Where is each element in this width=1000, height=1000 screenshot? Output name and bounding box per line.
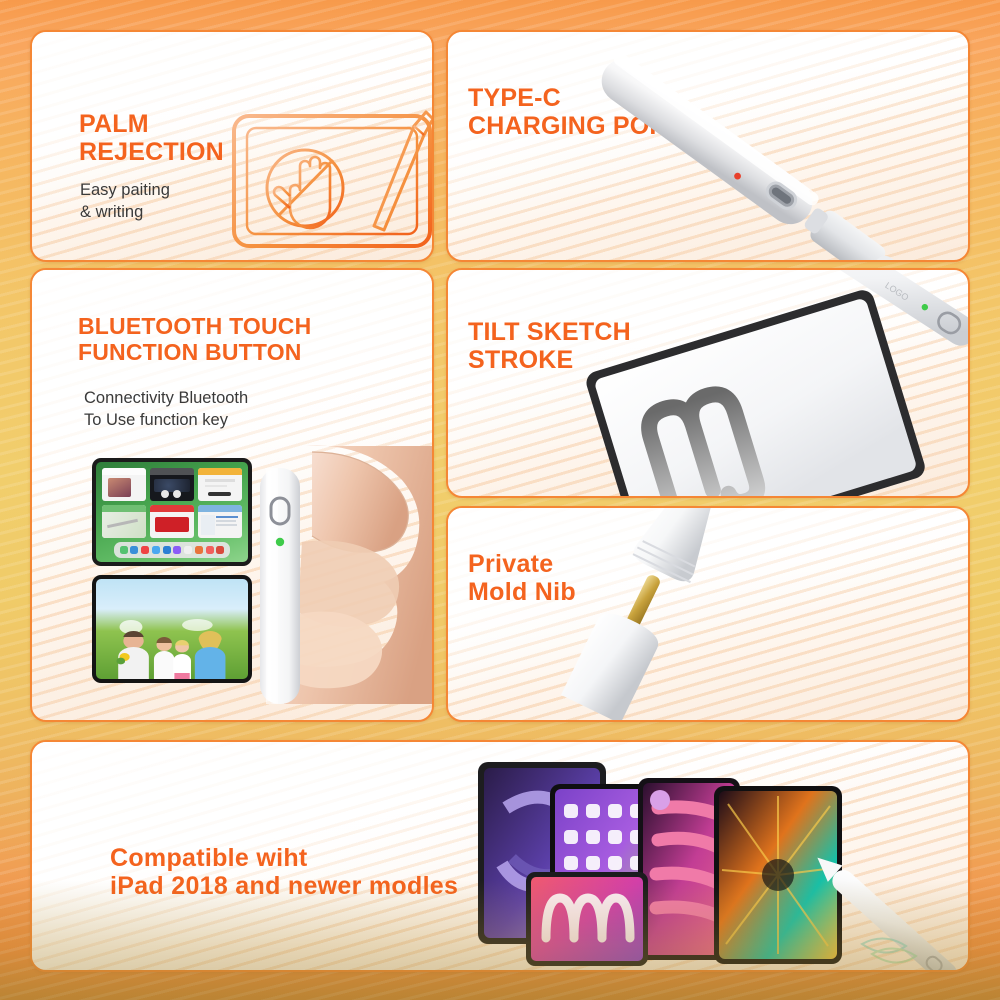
card-mold-nib: Private Mold Nib [446,506,970,722]
infographic-canvas: PALM REJECTION Easy paiting & writing [0,0,1000,1000]
ipad-pro-starburst [714,786,842,964]
app-card [102,505,146,538]
card-content: PALM REJECTION Easy paiting & writing [32,32,432,260]
bluetooth-title: BLUETOOTH TOUCH FUNCTION BUTTON [78,314,311,366]
app-card [198,505,242,538]
tilt-sketch-illustration: LOGO [448,270,968,496]
app-card [150,505,194,538]
card-content: TILT SKETCH STROKE [448,270,968,496]
card-content: TYPE-C CHARGING PORT [448,32,968,260]
palm-rejection-subtitle: Easy paiting & writing [80,180,170,224]
card-tilt-sketch: TILT SKETCH STROKE [446,268,970,498]
compatible-title: Compatible wiht iPad 2018 and newer modl… [110,844,458,900]
family-photo-art [108,617,236,679]
app-card [150,468,194,501]
card-content: Compatible wiht iPad 2018 and newer modl… [32,742,968,970]
mold-nib-illustration [448,508,968,720]
card-compatible: Compatible wiht iPad 2018 and newer modl… [30,740,970,972]
palm-rejection-icon [228,104,434,254]
card-bluetooth-touch: BLUETOOTH TOUCH FUNCTION BUTTON Connecti… [30,268,434,722]
tablet-screen-family-photo [96,579,248,679]
bluetooth-subtitle: Connectivity Bluetooth To Use function k… [84,388,248,432]
card-palm-rejection: PALM REJECTION Easy paiting & writing [30,30,434,262]
ipad-mini-front [526,872,648,966]
app-switcher-grid [102,468,242,538]
compatible-illustration [442,748,962,970]
card-content: BLUETOOTH TOUCH FUNCTION BUTTON Connecti… [32,270,432,720]
tablet-screen-apps [96,462,248,562]
app-card [102,468,146,501]
tablet-dock [114,542,230,558]
palm-rejection-title: PALM REJECTION [79,110,224,166]
tablet-multitasking [92,458,252,566]
type-c-illustration [448,32,968,258]
card-type-c: TYPE-C CHARGING PORT [446,30,970,262]
tablet-photo [92,575,252,683]
app-card [198,468,242,501]
hand-holding-stylus [246,446,434,704]
card-content: Private Mold Nib [448,508,968,720]
